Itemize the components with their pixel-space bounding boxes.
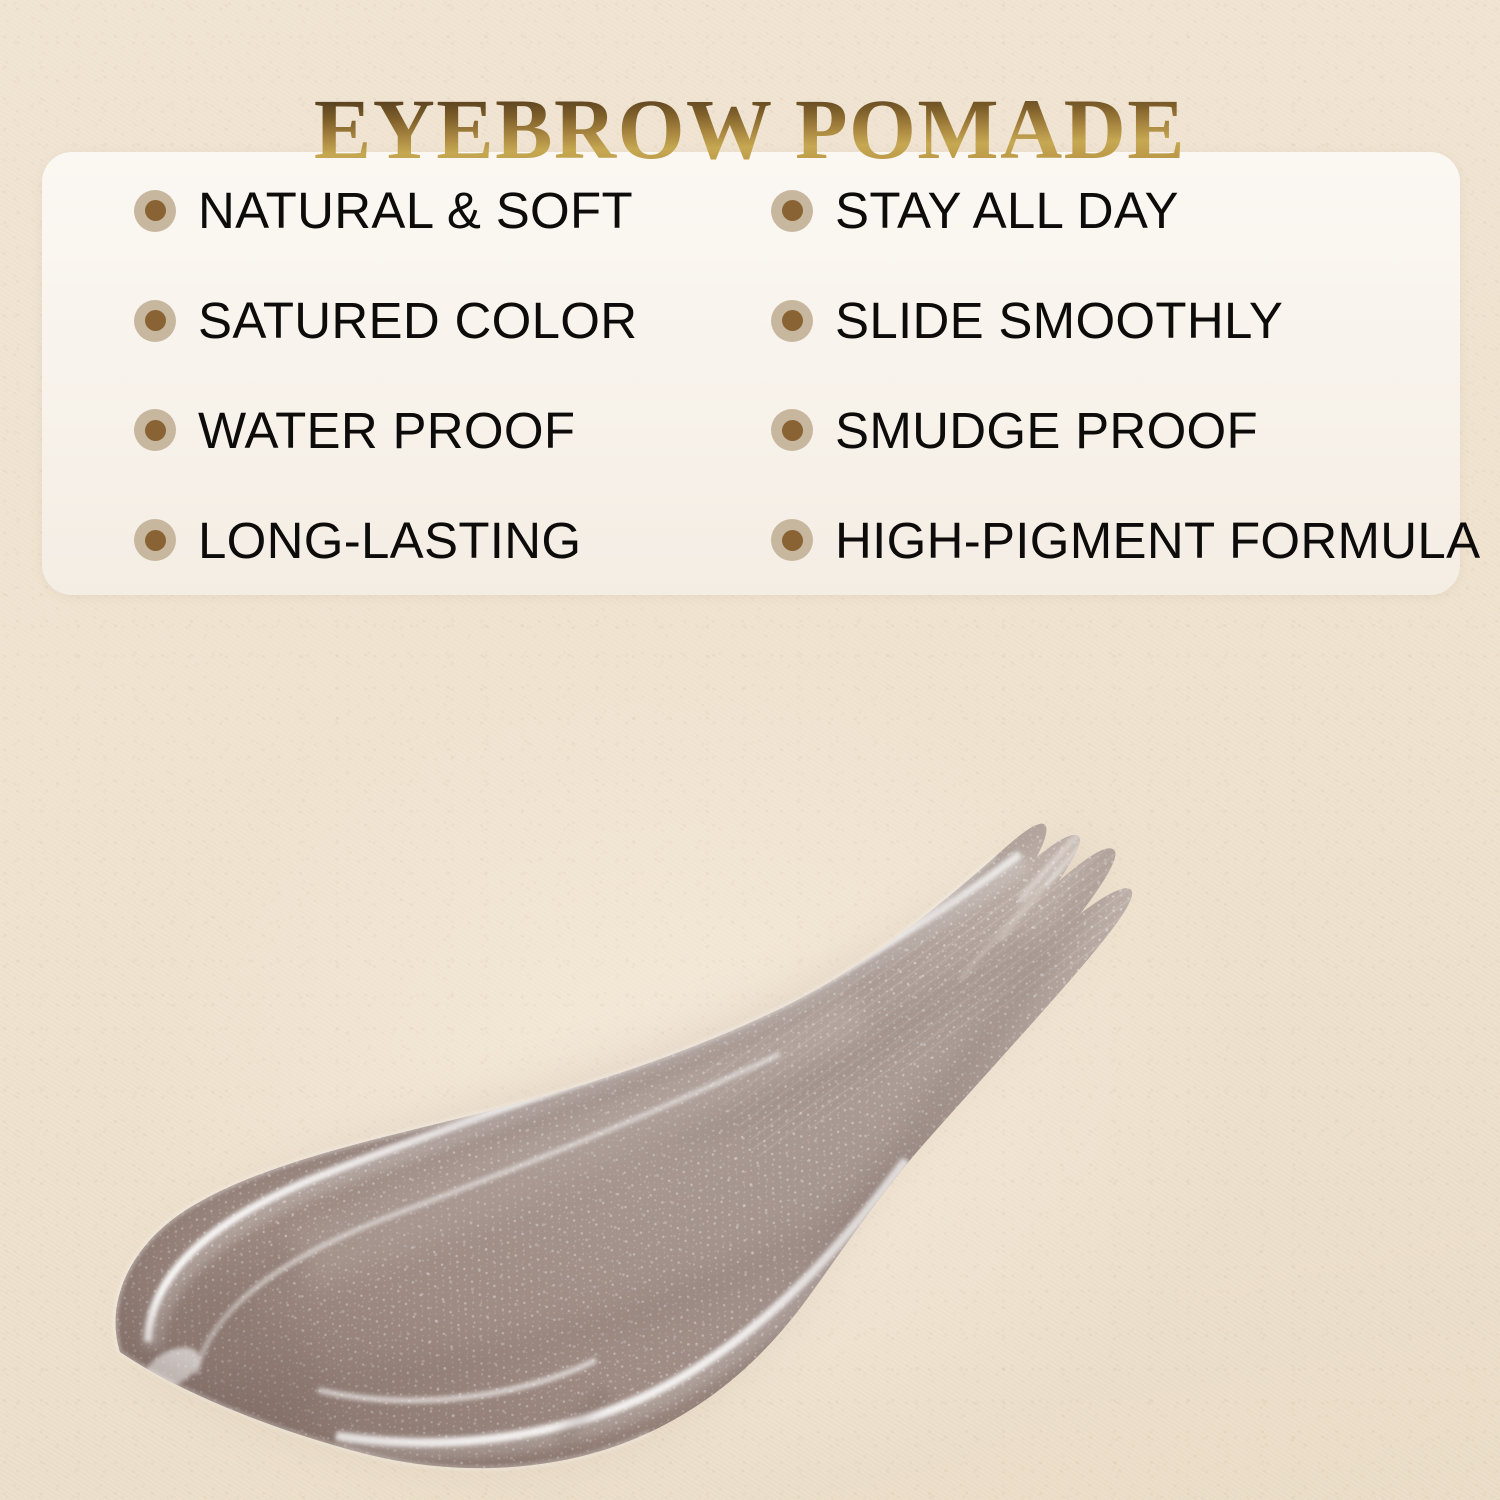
swatch-body [0, 600, 1500, 1500]
feature-item-water-proof: WATER PROOF [42, 405, 730, 456]
feature-label: SATURED COLOR [198, 295, 637, 346]
feature-label: SLIDE SMOOTHLY [835, 295, 1283, 346]
bullet-dot-icon [134, 300, 176, 342]
feature-item-long-lasting: LONG-LASTING [42, 515, 730, 566]
page-title-container: EYEBROW POMADE [0, 28, 1500, 229]
bullet-dot-icon [771, 519, 813, 561]
feature-item-smudge-proof: SMUDGE PROOF [730, 405, 1460, 456]
bullet-dot-icon [771, 409, 813, 451]
feature-item-satured-color: SATURED COLOR [42, 295, 730, 346]
product-swatch-container [0, 600, 1500, 1500]
page-title: EYEBROW POMADE [314, 86, 1186, 172]
product-feature-banner: EYEBROW POMADE NATURAL & SOFT STAY ALL D… [0, 0, 1500, 1500]
feature-label: HIGH-PIGMENT FORMULA [835, 515, 1480, 566]
feature-label: SMUDGE PROOF [835, 405, 1258, 456]
feature-label: LONG-LASTING [198, 515, 581, 566]
feature-item-high-pigment-formula: HIGH-PIGMENT FORMULA [730, 515, 1460, 566]
feature-label: WATER PROOF [198, 405, 575, 456]
pomade-swatch-image [0, 600, 1500, 1500]
bullet-dot-icon [771, 300, 813, 342]
bullet-dot-icon [134, 409, 176, 451]
feature-item-slide-smoothly: SLIDE SMOOTHLY [730, 295, 1460, 346]
bullet-dot-icon [134, 519, 176, 561]
